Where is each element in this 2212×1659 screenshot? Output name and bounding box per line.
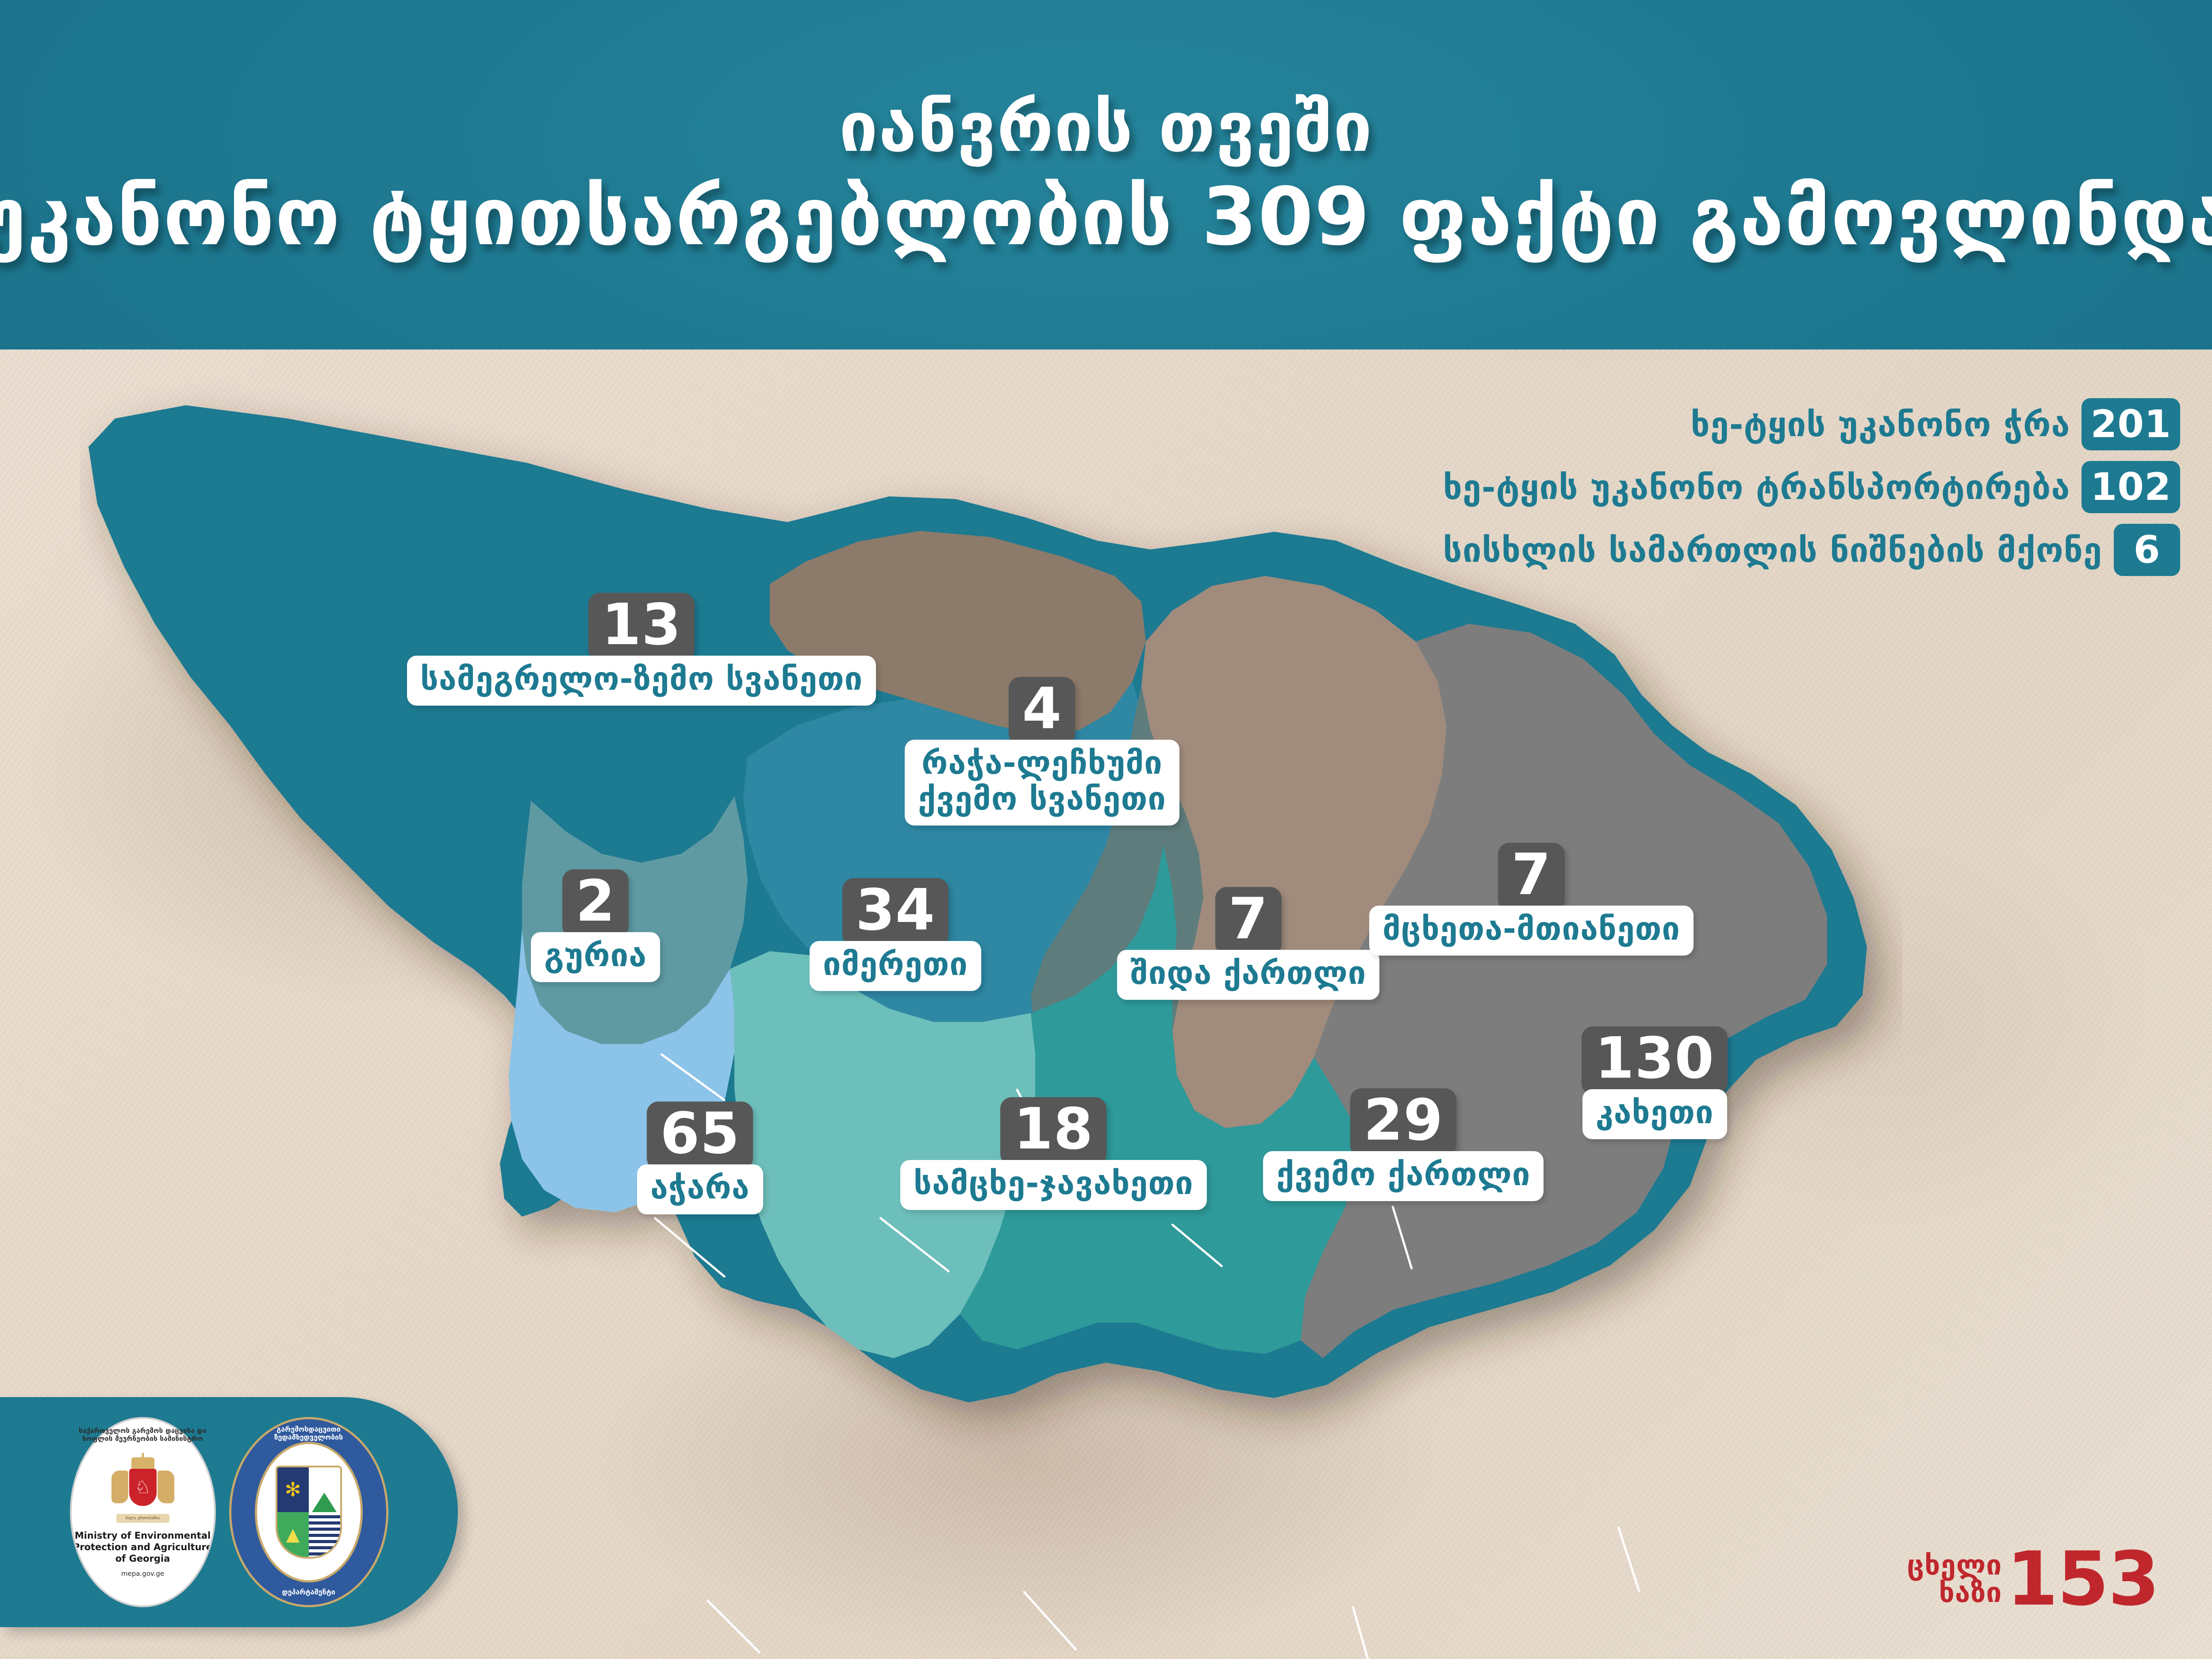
callout-label: სამეგრელო-ზემო სვანეთი	[407, 656, 876, 706]
department-title-bottom: დეპარტამენტი	[231, 1588, 386, 1596]
callout-label: იმერეთი	[810, 941, 981, 991]
callout-shida[interactable]: 7 შიდა ქართლი	[1117, 887, 1379, 1000]
department-ring-text: გარემოსდაცვითი ზედამხედველობის დეპარტამე…	[231, 1419, 386, 1605]
hotline-label: ცხელი ხაზი	[1907, 1551, 2002, 1606]
hotline-word2: ხაზი	[1907, 1579, 2002, 1606]
callout-mtskheta[interactable]: 7 მცხეთა-მთიანეთი	[1369, 843, 1694, 956]
callout-label: გურია	[531, 932, 660, 982]
callout-label: შიდა ქართლი	[1117, 950, 1379, 1000]
callout-kakheti[interactable]: 130 კახეთი	[1582, 1026, 1728, 1139]
callout-label: აჭარა	[637, 1164, 763, 1214]
leader-line-kvemo	[1352, 1606, 1374, 1659]
callout-value: 18	[1000, 1097, 1106, 1165]
mepa-url: mepa.gov.ge	[121, 1570, 164, 1578]
header-suffix: ფაქტი გამოვლინდა	[1371, 171, 2212, 263]
leader-line-adjara	[706, 1599, 761, 1654]
legend-value-badge: 102	[2081, 461, 2180, 513]
logo-plate: საქართველოს გარემოს დაცვისა და სოფლის მე…	[0, 1397, 458, 1627]
callout-value: 7	[1215, 887, 1282, 955]
callout-label: სამცხე-ჯავახეთი	[900, 1160, 1207, 1210]
callout-value: 13	[588, 593, 695, 661]
lion-left-icon	[111, 1471, 128, 1503]
callout-label: ქვემო ქართლი	[1263, 1151, 1544, 1201]
header-banner: იანვრის თვეში უკანონო ტყითსარგებლობის 30…	[0, 0, 2212, 349]
callout-value: 65	[647, 1102, 753, 1170]
callout-label: კახეთი	[1582, 1089, 1727, 1139]
saint-george-rider-icon: ♘	[135, 1479, 151, 1496]
callout-value: 2	[562, 869, 629, 937]
legend-value-badge: 201	[2081, 398, 2180, 450]
callout-value: 34	[842, 878, 949, 946]
motto-banner: ძალა ერთობაშია	[116, 1514, 169, 1523]
legend-panel: ხე-ტყის უკანონო ჭრა 201 ხე-ტყის უკანონო …	[1443, 398, 2180, 576]
legend-value-badge: 6	[2114, 524, 2180, 576]
callout-value: 29	[1350, 1088, 1456, 1156]
header-total-count: 309	[1202, 171, 1371, 263]
callout-imereti[interactable]: 34 იმერეთი	[810, 878, 981, 991]
callout-samegrelo[interactable]: 13 სამეგრელო-ზემო სვანეთი	[407, 593, 876, 706]
emblem-mepa-wrapper: საქართველოს გარემოს დაცვისა და სოფლის მე…	[70, 1417, 216, 1607]
leader-line-samtskhe	[1022, 1590, 1077, 1651]
mepa-emblem: საქართველოს გარემოს დაცვისა და სოფლის მე…	[70, 1417, 216, 1607]
header-title-line1: იანვრის თვეში	[839, 93, 1373, 161]
callout-value: 130	[1582, 1026, 1728, 1094]
hotline-word1: ცხელი	[1907, 1551, 2002, 1579]
lion-right-icon	[157, 1471, 174, 1503]
department-title-top: გარემოსდაცვითი ზედამხედველობის	[231, 1425, 386, 1441]
legend-label: ხე-ტყის უკანონო ტრანსპორტირება	[1443, 468, 2070, 507]
mepa-english-title: Ministry of Environmental Protection and…	[72, 1530, 214, 1565]
georgia-coat-of-arms-icon: ♘ ძალა ერთობაშია	[110, 1457, 176, 1524]
mepa-georgian-title: საქართველოს გარემოს დაცვისა და სოფლის მე…	[70, 1427, 216, 1443]
callout-kvemo[interactable]: 29 ქვემო ქართლი	[1263, 1088, 1544, 1201]
legend-label: სისხლის სამართლის ნიშნების მქონე	[1443, 530, 2102, 570]
callout-label: მცხეთა-მთიანეთი	[1369, 906, 1694, 956]
red-shield-icon: ♘	[129, 1469, 157, 1506]
emblem-department-wrapper: გარემოსდაცვითი ზედამხედველობის დეპარტამე…	[229, 1417, 388, 1607]
callout-adjara[interactable]: 65 აჭარა	[637, 1102, 763, 1214]
callout-guria[interactable]: 2 გურია	[531, 869, 660, 982]
header-title-line2: უკანონო ტყითსარგებლობის 309 ფაქტი გამოვლ…	[0, 177, 2212, 257]
header-prefix: უკანონო ტყითსარგებლობის	[0, 171, 1202, 263]
environmental-supervision-emblem: გარემოსდაცვითი ზედამხედველობის დეპარტამე…	[229, 1417, 388, 1607]
legend-row: ხე-ტყის უკანონო ჭრა 201	[1691, 398, 2181, 450]
callout-value: 4	[1009, 677, 1075, 745]
callout-value: 7	[1498, 843, 1564, 911]
crown-icon	[131, 1457, 154, 1469]
legend-label: ხე-ტყის უკანონო ჭრა	[1691, 405, 2070, 444]
hotline-number: 153	[2006, 1546, 2159, 1613]
legend-row: ხე-ტყის უკანონო ტრანსპორტირება 102	[1443, 461, 2180, 513]
legend-row: სისხლის სამართლის ნიშნების მქონე 6	[1443, 524, 2180, 576]
callout-label: რაჭა-ლეჩხუმიქვემო სვანეთი	[905, 740, 1179, 825]
hotline-block: ცხელი ხაზი 153	[1907, 1546, 2159, 1613]
callout-racha[interactable]: 4 რაჭა-ლეჩხუმიქვემო სვანეთი	[905, 677, 1179, 826]
callout-samtskhe[interactable]: 18 სამცხე-ჯავახეთი	[900, 1097, 1207, 1210]
